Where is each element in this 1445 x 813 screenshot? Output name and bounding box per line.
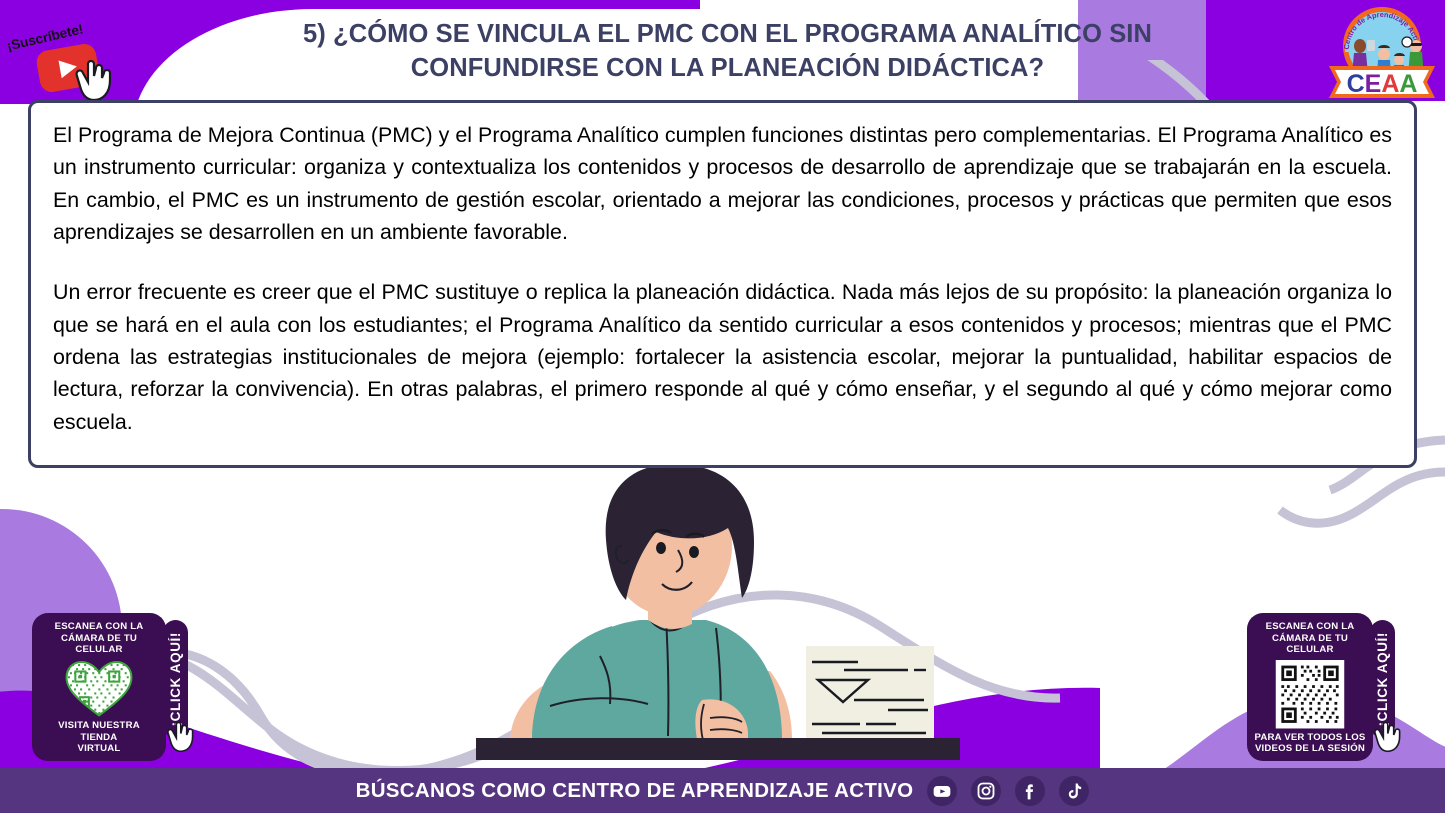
click-here-label-right: ¡CLICK AQUÍ! xyxy=(1375,632,1390,726)
facebook-icon[interactable] xyxy=(1015,776,1045,806)
hand-cursor-icon xyxy=(74,54,120,102)
page-title: 5) ¿CÓMO SE VINCULA EL PMC CON EL PROGRA… xyxy=(245,18,1210,85)
subscribe-badge[interactable]: ¡Suscríbete! xyxy=(2,14,122,92)
footer-text: BÚSCANOS COMO CENTRO DE APRENDIZAJE ACTI… xyxy=(356,779,914,803)
title-line-1: 5) ¿CÓMO SE VINCULA EL PMC CON EL PROGRA… xyxy=(245,18,1210,52)
illustration-woman-at-desk xyxy=(470,468,980,764)
content-paragraph-2: Un error frecuente es creer que el PMC s… xyxy=(53,276,1392,438)
slide-canvas: ¡Suscríbete! Centro de Aprendizaje Activ… xyxy=(0,0,1445,813)
hand-cursor-icon-right xyxy=(1373,717,1407,753)
qr-caption-top-right: ESCANEA CON LA CÁMARA DE TU CELULAR xyxy=(1254,621,1366,656)
click-here-label-left: ¡CLICK AQUÍ! xyxy=(168,632,183,726)
content-paragraph-1: El Programa de Mejora Continua (PMC) y e… xyxy=(53,119,1392,248)
qr-card-videos[interactable]: ESCANEA CON LA CÁMARA DE TU CELULAR xyxy=(1247,613,1373,761)
qr-caption-top-left: ESCANEA CON LA CÁMARA DE TU CELULAR xyxy=(39,621,159,656)
qr-card-store[interactable]: ESCANEA CON LA CÁMARA DE TU CELULAR xyxy=(32,613,166,761)
qr-caption-bottom-left: VISITA NUESTRA TIENDA VIRTUAL xyxy=(58,720,140,755)
tiktok-icon[interactable] xyxy=(1059,776,1089,806)
content-card: El Programa de Mejora Continua (PMC) y e… xyxy=(28,100,1417,468)
svg-text:CEAA: CEAA xyxy=(1347,70,1418,98)
qr-caption-bottom-right: PARA VER TODOS LOS VIDEOS DE LA SESIÓN xyxy=(1254,732,1365,755)
ceaa-logo: Centro de Aprendizaje Activo CEAA xyxy=(1327,4,1437,100)
qr-code-square-icon[interactable] xyxy=(1261,660,1359,728)
footer-bar: BÚSCANOS COMO CENTRO DE APRENDIZAJE ACTI… xyxy=(0,768,1445,813)
youtube-icon[interactable] xyxy=(927,776,957,806)
hand-cursor-icon-left xyxy=(166,717,200,753)
qr-code-heart-icon[interactable] xyxy=(47,660,151,717)
instagram-icon[interactable] xyxy=(971,776,1001,806)
title-line-2: CONFUNDIRSE CON LA PLANEACIÓN DIDÁCTICA? xyxy=(245,52,1210,86)
